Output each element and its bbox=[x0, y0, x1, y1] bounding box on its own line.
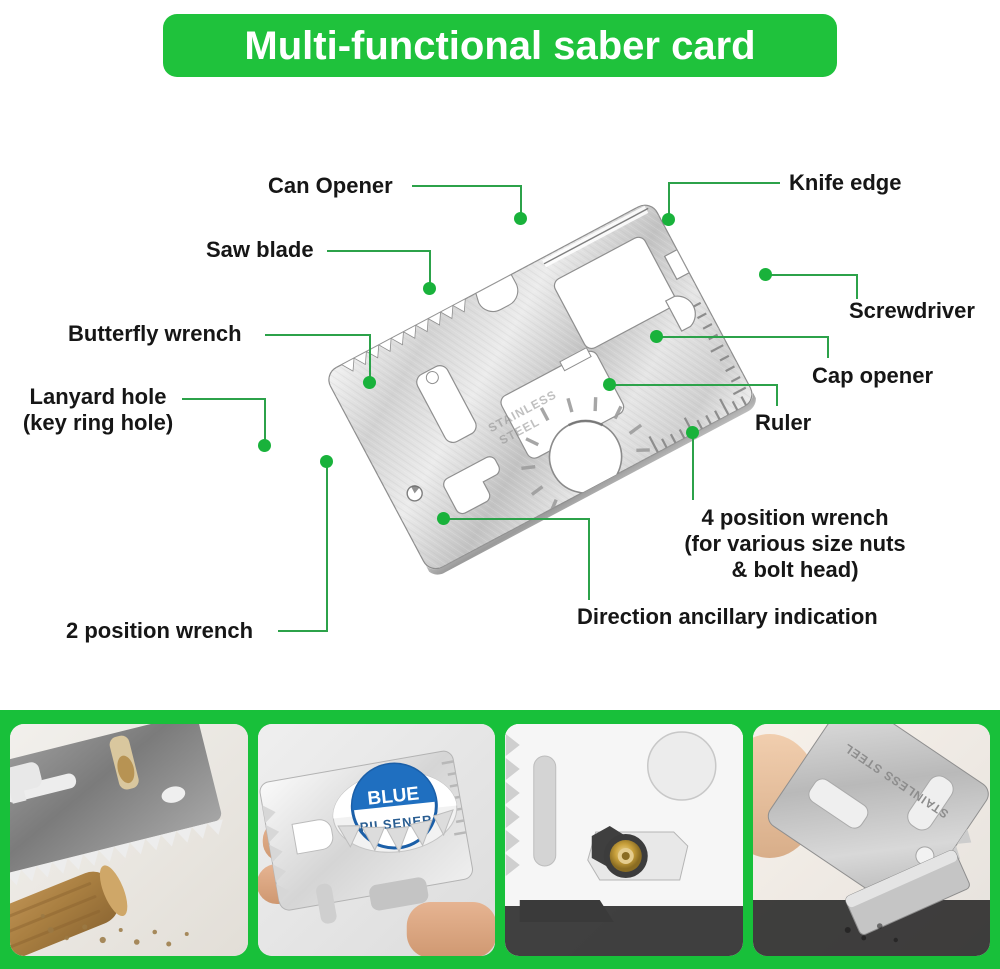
photo-panel-screwdriver-graphic: STAINLESS STEEL bbox=[753, 724, 991, 956]
callout-label-can-opener: Can Opener bbox=[268, 173, 393, 199]
leader-dot-cap-opener bbox=[650, 330, 663, 343]
leader-line-two-position-wrench-h bbox=[278, 630, 328, 632]
leader-line-butterfly-wrench-v bbox=[369, 334, 371, 382]
leader-dot-direction-indication bbox=[437, 512, 450, 525]
callout-label-four-position-line1: 4 position wrench bbox=[701, 505, 888, 530]
leader-line-butterfly-wrench-h bbox=[265, 334, 371, 336]
photo-panel-screwdriver: STAINLESS STEEL bbox=[753, 724, 991, 956]
leader-dot-screwdriver bbox=[759, 268, 772, 281]
leader-dot-knife-edge bbox=[662, 213, 675, 226]
leader-dot-two-position-wrench bbox=[320, 455, 333, 468]
photo-panel-wrench-graphic bbox=[505, 724, 743, 956]
leader-line-lanyard-hole-v bbox=[264, 398, 266, 445]
callout-label-lanyard-hole-line1: Lanyard hole bbox=[30, 384, 167, 409]
leader-dot-ruler bbox=[603, 378, 616, 391]
leader-line-lanyard-hole-h bbox=[182, 398, 266, 400]
photo-panel-saw-graphic bbox=[10, 724, 248, 956]
callout-label-four-position-line2: (for various size nuts bbox=[650, 531, 940, 557]
callout-label-two-position-wrench: 2 position wrench bbox=[66, 618, 253, 644]
infographic-canvas: Multi-functional saber card bbox=[0, 0, 1000, 969]
photo-panel-cap-opener: BLUE PILSENER bbox=[258, 724, 496, 956]
leader-line-screwdriver-v bbox=[856, 274, 858, 299]
leader-dot-four-position-wrench bbox=[686, 426, 699, 439]
photo-panel-wrench bbox=[505, 724, 743, 956]
leader-line-direction-indication-v bbox=[588, 518, 590, 600]
page-title-banner: Multi-functional saber card bbox=[163, 14, 837, 77]
callout-label-knife-edge: Knife edge bbox=[789, 170, 901, 196]
leader-line-two-position-wrench-v bbox=[326, 466, 328, 631]
callout-label-screwdriver: Screwdriver bbox=[849, 298, 975, 324]
leader-dot-saw-blade bbox=[423, 282, 436, 295]
leader-line-four-position-wrench-v bbox=[692, 432, 694, 500]
leader-line-saw-blade-h bbox=[327, 250, 431, 252]
leader-line-can-opener-h bbox=[412, 185, 522, 187]
leader-line-direction-indication-h bbox=[446, 518, 590, 520]
photo-strip-panels: BLUE PILSENER bbox=[10, 724, 990, 956]
callout-label-lanyard-hole-line2: (key ring hole) bbox=[16, 410, 180, 436]
photo-panel-cap-opener-graphic: BLUE PILSENER bbox=[258, 724, 496, 956]
callout-label-saw-blade: Saw blade bbox=[206, 237, 314, 263]
callout-label-butterfly-wrench: Butterfly wrench bbox=[68, 321, 242, 347]
callout-label-cap-opener: Cap opener bbox=[812, 363, 933, 389]
leader-line-ruler-h bbox=[610, 384, 778, 386]
leader-dot-butterfly-wrench bbox=[363, 376, 376, 389]
leader-line-screwdriver-h bbox=[766, 274, 858, 276]
photo-strip: BLUE PILSENER bbox=[0, 710, 1000, 969]
leader-line-cap-opener-v bbox=[827, 336, 829, 358]
leader-line-knife-edge-h bbox=[668, 182, 780, 184]
leader-dot-lanyard-hole bbox=[258, 439, 271, 452]
callout-label-ruler: Ruler bbox=[755, 410, 811, 436]
page-title: Multi-functional saber card bbox=[244, 26, 755, 66]
photo-panel-saw bbox=[10, 724, 248, 956]
callout-label-lanyard-hole: Lanyard hole (key ring hole) bbox=[16, 384, 180, 436]
leader-dot-can-opener bbox=[514, 212, 527, 225]
callout-label-four-position-line3: & bolt head) bbox=[650, 557, 940, 583]
callout-label-direction-indication: Direction ancillary indication bbox=[577, 604, 878, 630]
callout-label-four-position-wrench: 4 position wrench (for various size nuts… bbox=[650, 505, 940, 583]
leader-line-ruler-v bbox=[776, 384, 778, 406]
leader-line-cap-opener-h bbox=[657, 336, 829, 338]
